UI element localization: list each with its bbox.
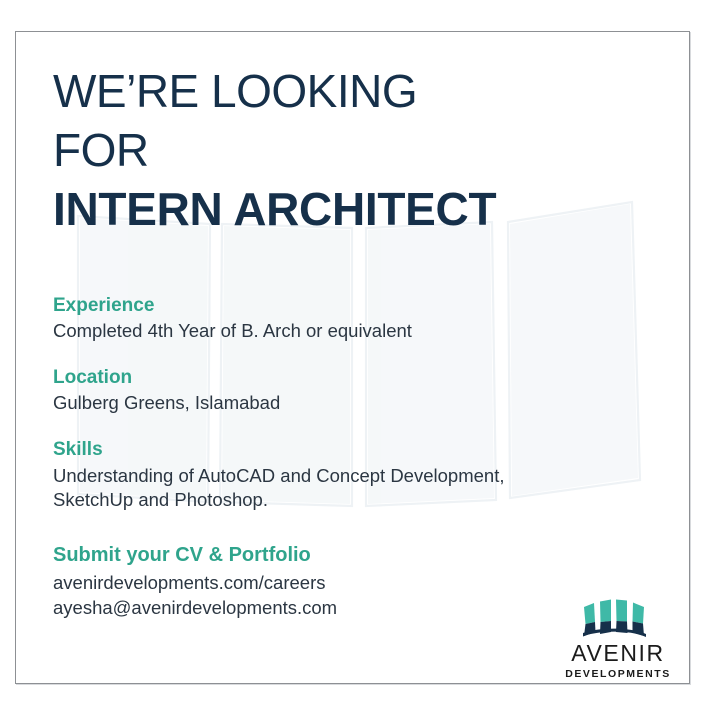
avenir-wordmark: AVENIR: [552, 642, 684, 665]
avenir-logo-lockup: AVENIR DEVELOPMENTS: [552, 594, 684, 680]
section-experience-heading: Experience: [53, 294, 653, 318]
headline-line-2: FOR: [53, 121, 653, 180]
section-skills-body: Understanding of AutoCAD and Concept Dev…: [53, 464, 653, 513]
section-experience-body-line-1: Completed 4th Year of B. Arch or equival…: [53, 320, 412, 341]
section-location: Location Gulberg Greens, Islamabad: [53, 366, 653, 416]
submit-heading: Submit your CV & Portfolio: [53, 542, 653, 568]
section-location-body-line-1: Gulberg Greens, Islamabad: [53, 392, 280, 413]
section-skills: Skills Understanding of AutoCAD and Conc…: [53, 438, 653, 513]
poster-content: WE’RE LOOKING FOR INTERN ARCHITECT Exper…: [53, 62, 653, 621]
headline: WE’RE LOOKING FOR INTERN ARCHITECT: [53, 62, 653, 240]
headline-line-1: WE’RE LOOKING: [53, 62, 653, 121]
careers-website-link[interactable]: avenirdevelopments.com/careers: [53, 571, 653, 596]
avenir-subtext: DEVELOPMENTS: [552, 669, 684, 680]
section-experience-body: Completed 4th Year of B. Arch or equival…: [53, 319, 653, 343]
headline-job-title: INTERN ARCHITECT: [53, 180, 653, 240]
section-skills-body-line-2: SketchUp and Photoshop.: [53, 488, 653, 512]
section-experience: Experience Completed 4th Year of B. Arch…: [53, 294, 653, 344]
job-advert-poster: WE’RE LOOKING FOR INTERN ARCHITECT Exper…: [0, 0, 720, 709]
avenir-building-panels-mark: [581, 594, 655, 638]
section-location-heading: Location: [53, 366, 653, 390]
detail-sections: Experience Completed 4th Year of B. Arch…: [53, 294, 653, 513]
section-location-body: Gulberg Greens, Islamabad: [53, 391, 653, 415]
section-skills-body-line-1: Understanding of AutoCAD and Concept Dev…: [53, 465, 504, 486]
section-skills-heading: Skills: [53, 438, 653, 462]
